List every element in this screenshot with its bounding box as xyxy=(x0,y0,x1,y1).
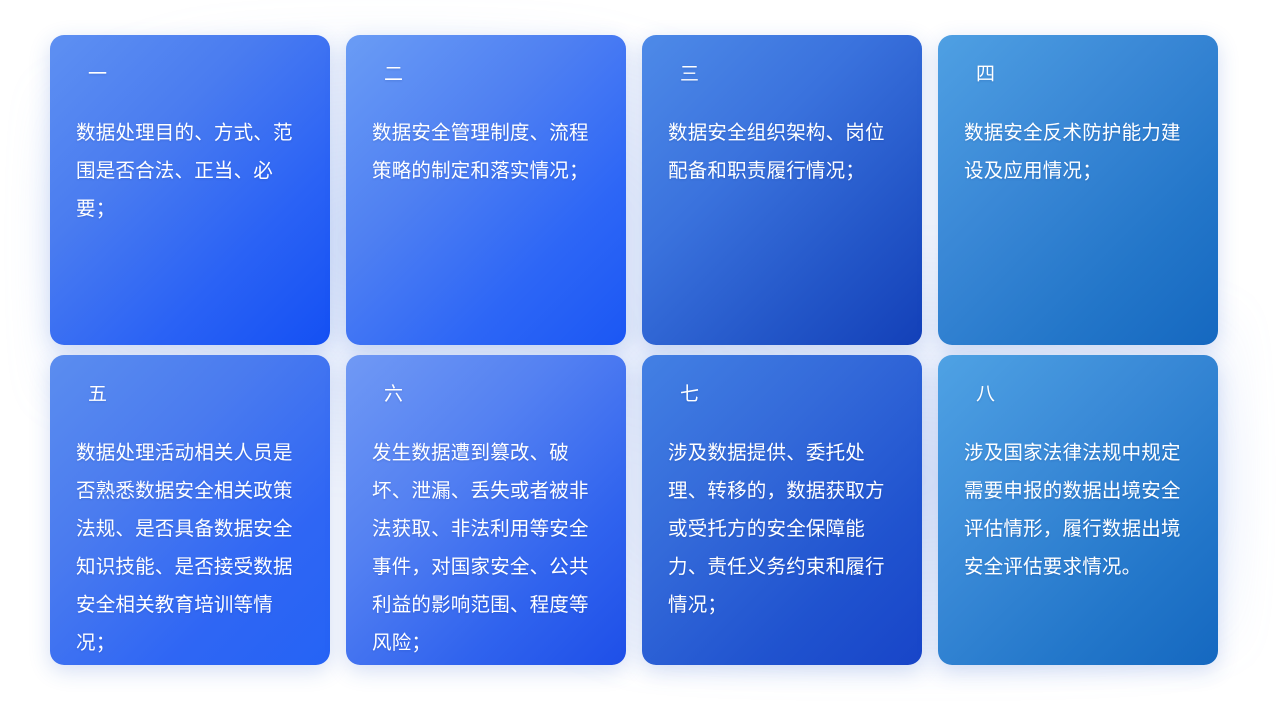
card-body-text: 数据处理活动相关人员是否熟悉数据安全相关政策法规、是否具备数据安全知识技能、是否… xyxy=(76,434,304,662)
card-body-text: 涉及国家法律法规中规定需要申报的数据出境安全评估情形，履行数据出境安全评估要求情… xyxy=(964,434,1192,586)
info-card-7[interactable]: 七 涉及数据提供、委托处理、转移的，数据获取方或受托方的安全保障能力、责任义务约… xyxy=(642,355,922,665)
card-index-label: 七 xyxy=(668,385,896,404)
card-body-text: 数据安全管理制度、流程策略的制定和落实情况； xyxy=(372,114,600,190)
card-index-label: 四 xyxy=(964,65,1192,84)
info-card-4[interactable]: 四 数据安全反术防护能力建设及应用情况； xyxy=(938,35,1218,345)
info-card-2[interactable]: 二 数据安全管理制度、流程策略的制定和落实情况； xyxy=(346,35,626,345)
info-card-6[interactable]: 六 发生数据遭到篡改、破坏、泄漏、丢失或者被非法获取、非法利用等安全事件，对国家… xyxy=(346,355,626,665)
info-card-8[interactable]: 八 涉及国家法律法规中规定需要申报的数据出境安全评估情形，履行数据出境安全评估要… xyxy=(938,355,1218,665)
card-index-label: 六 xyxy=(372,385,600,404)
card-index-label: 二 xyxy=(372,65,600,84)
card-grid: 一 数据处理目的、方式、范围是否合法、正当、必要； 二 数据安全管理制度、流程策… xyxy=(50,35,1230,665)
info-card-5[interactable]: 五 数据处理活动相关人员是否熟悉数据安全相关政策法规、是否具备数据安全知识技能、… xyxy=(50,355,330,665)
card-body-text: 数据安全反术防护能力建设及应用情况； xyxy=(964,114,1192,190)
card-index-label: 一 xyxy=(76,65,304,84)
card-index-label: 八 xyxy=(964,385,1192,404)
card-index-label: 五 xyxy=(76,385,304,404)
card-body-text: 数据安全组织架构、岗位配备和职责履行情况； xyxy=(668,114,896,190)
card-index-label: 三 xyxy=(668,65,896,84)
info-card-1[interactable]: 一 数据处理目的、方式、范围是否合法、正当、必要； xyxy=(50,35,330,345)
card-body-text: 发生数据遭到篡改、破坏、泄漏、丢失或者被非法获取、非法利用等安全事件，对国家安全… xyxy=(372,434,600,662)
card-body-text: 数据处理目的、方式、范围是否合法、正当、必要； xyxy=(76,114,304,228)
info-card-3[interactable]: 三 数据安全组织架构、岗位配备和职责履行情况； xyxy=(642,35,922,345)
card-body-text: 涉及数据提供、委托处理、转移的，数据获取方或受托方的安全保障能力、责任义务约束和… xyxy=(668,434,896,624)
